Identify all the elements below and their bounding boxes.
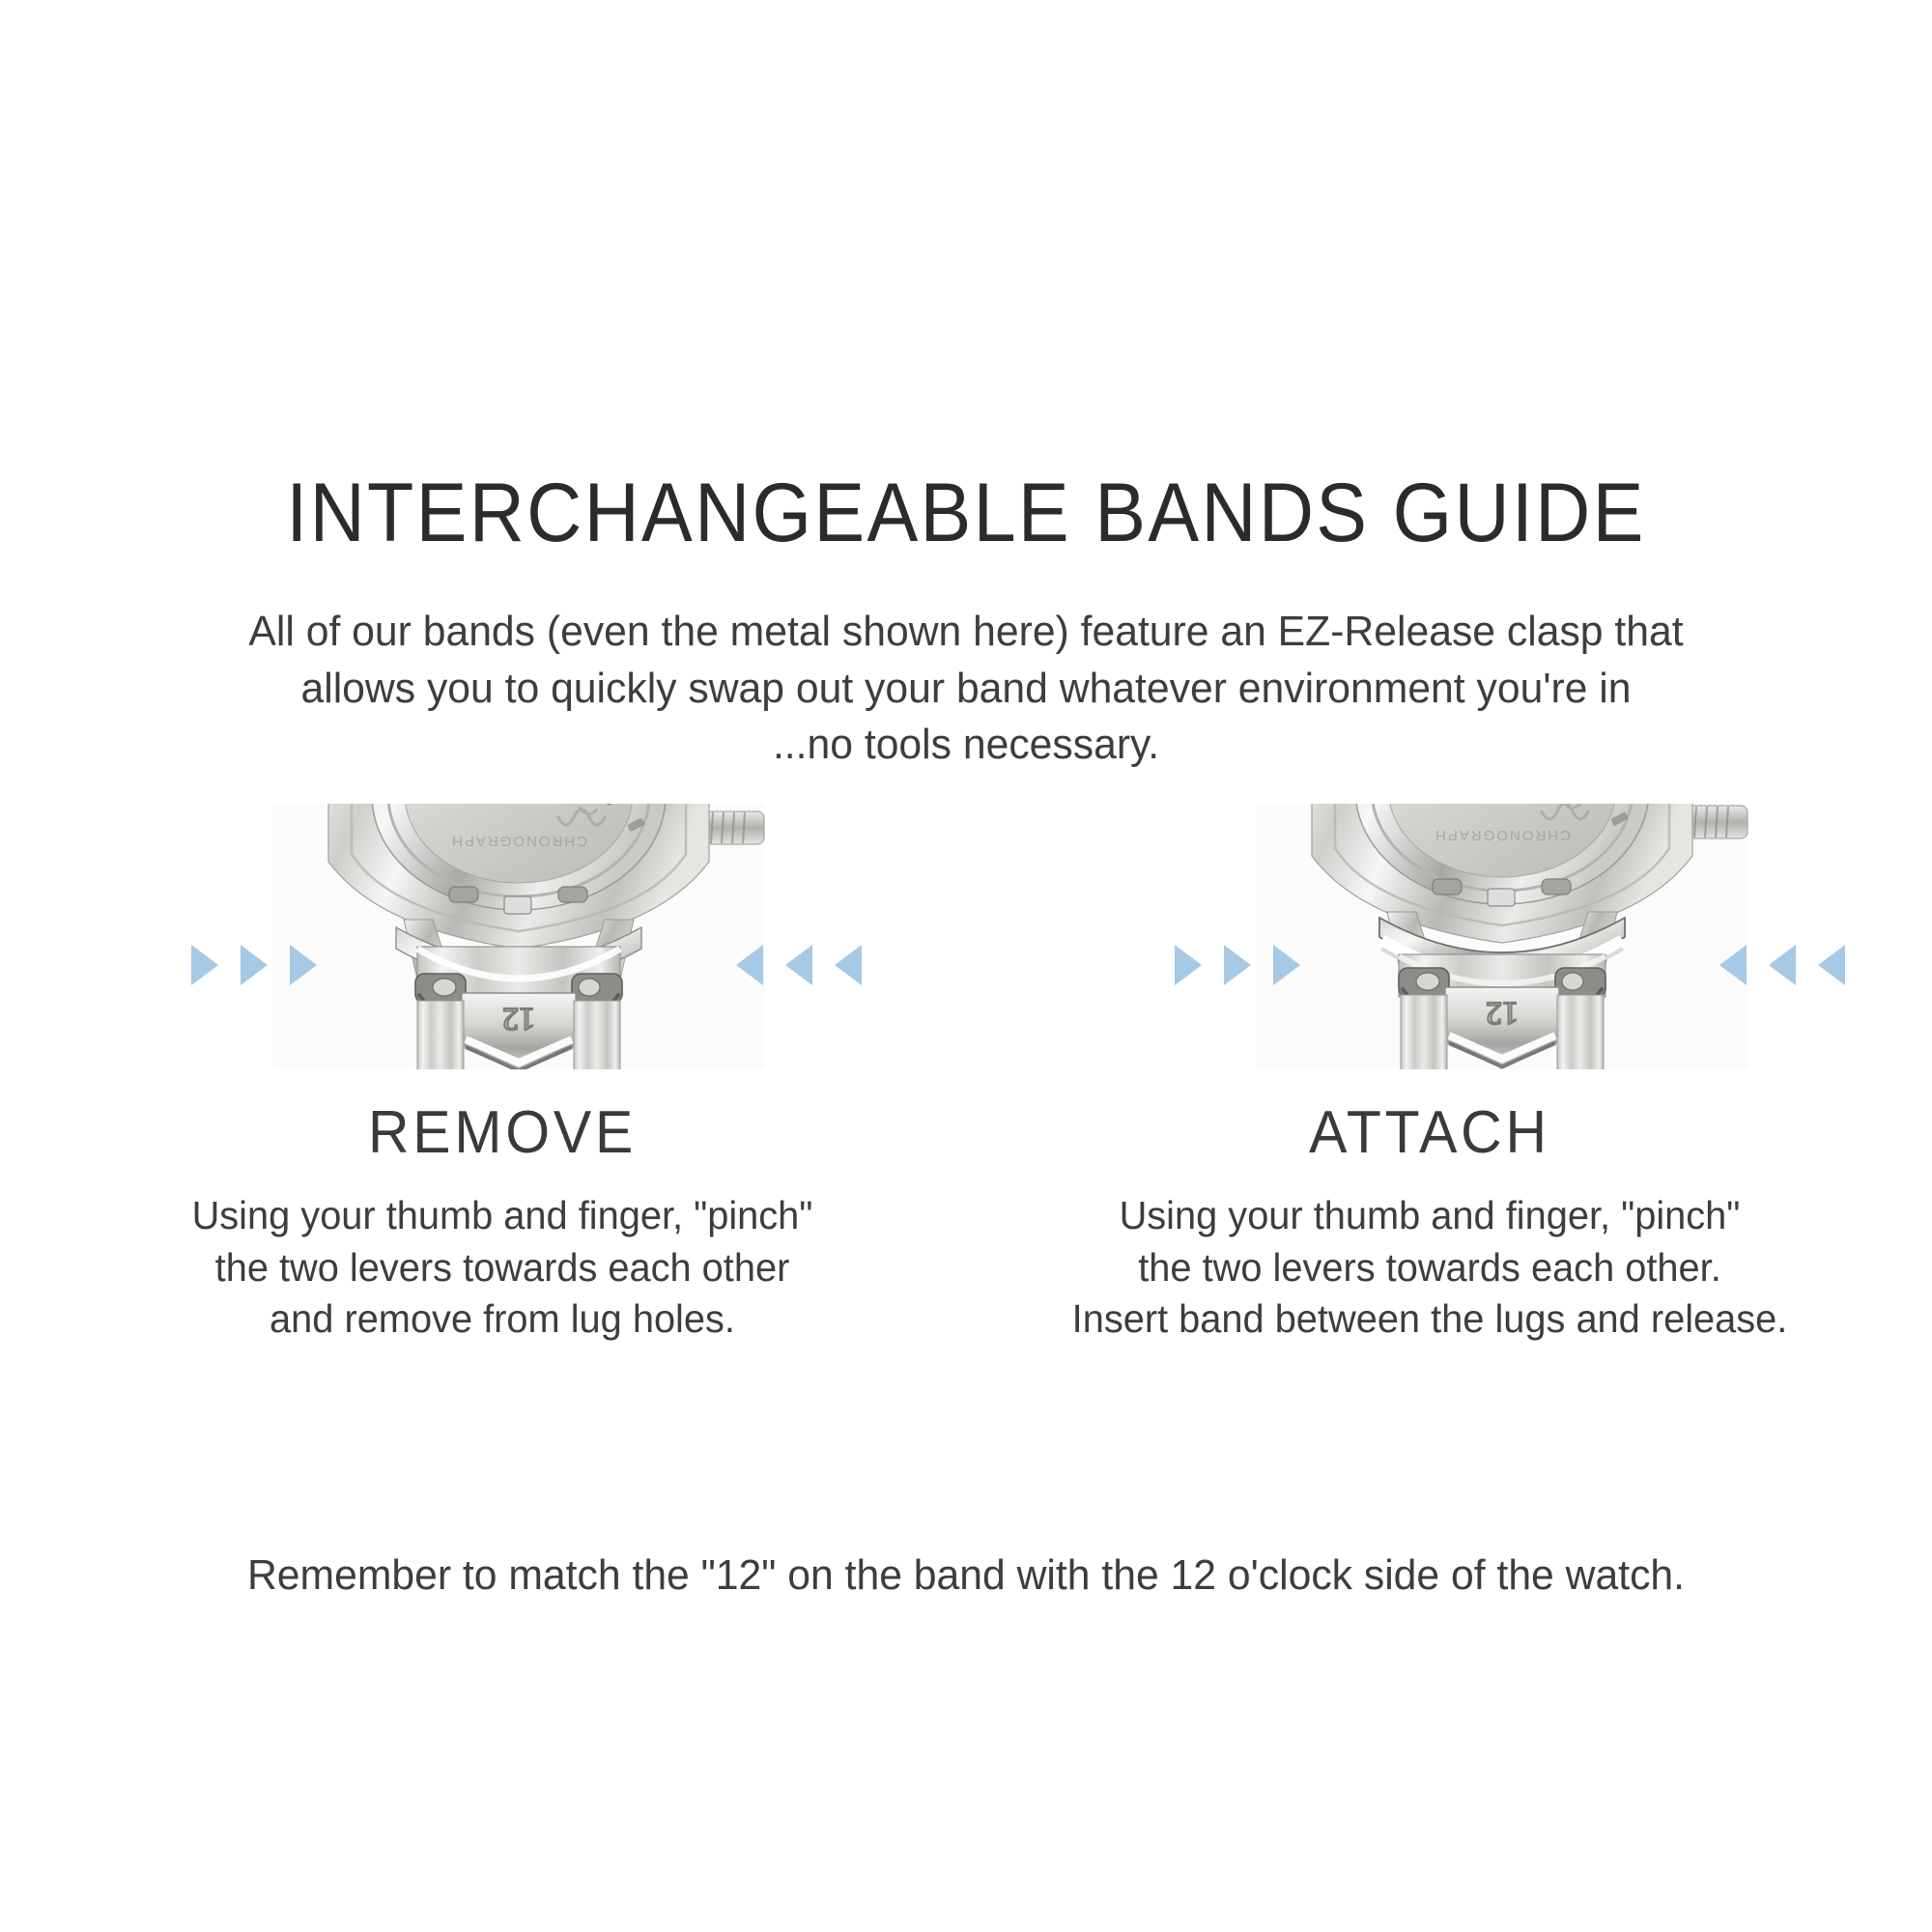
intro-paragraph: All of our bands (even the metal shown h… (188, 604, 1744, 774)
watch-caseback-illustration: CHRONOGRAPH (272, 804, 765, 1069)
step-title-remove: REMOVE (62, 1098, 943, 1167)
step-caption-remove: Using your thumb and finger, "pinch" the… (52, 1190, 952, 1346)
band-marking-12: 12 (1486, 995, 1519, 1031)
page-title: INTERCHANGEABLE BANDS GUIDE (77, 466, 1855, 561)
bands-guide-page: INTERCHANGEABLE BANDS GUIDE All of our b… (0, 0, 1932, 1932)
intro-line-3: ...no tools necessary. (188, 717, 1744, 774)
figure-remove: CHRONOGRAPH (39, 773, 966, 1072)
caption-line-1: Using your thumb and finger, "pinch" (52, 1190, 952, 1242)
caption-line-1: Using your thumb and finger, "pinch" (980, 1190, 1879, 1242)
step-caption-attach: Using your thumb and finger, "pinch" the… (980, 1190, 1879, 1346)
step-panel-remove: CHRONOGRAPH (39, 773, 966, 1352)
caseback-engraving: CHRONOGRAPH (1434, 827, 1571, 843)
step-panel-attach: CHRONOGRAPH (966, 773, 1893, 1352)
watch-caseback-illustration: CHRONOGRAPH (1256, 804, 1748, 1069)
caption-line-2: the two levers towards each other. (980, 1242, 1879, 1294)
svg-text:CHRONOGRAPH: CHRONOGRAPH (450, 833, 587, 849)
caption-line-3: Insert band between the lugs and release… (980, 1293, 1879, 1346)
watch-photo-attach: CHRONOGRAPH (1256, 804, 1748, 1069)
caseback-engraving: CHRONOGRAPH (450, 833, 587, 849)
triangle-right-icon (191, 945, 218, 985)
caption-line-3: and remove from lug holes. (52, 1293, 952, 1346)
triangle-left-icon (785, 945, 812, 985)
band-marking-12: 12 (502, 1001, 535, 1037)
figure-attach: CHRONOGRAPH (966, 773, 1893, 1072)
triangle-left-icon (1818, 945, 1845, 985)
triangle-left-icon (1769, 945, 1796, 985)
triangle-left-icon (835, 945, 862, 985)
footer-note: Remember to match the "12" on the band w… (29, 1551, 1903, 1600)
svg-text:CHRONOGRAPH: CHRONOGRAPH (1434, 827, 1571, 843)
caption-line-2: the two levers towards each other (52, 1242, 952, 1294)
triangle-right-icon (241, 945, 268, 985)
intro-line-1: All of our bands (even the metal shown h… (188, 604, 1744, 661)
watch-photo-remove: CHRONOGRAPH (272, 804, 765, 1069)
step-title-attach: ATTACH (989, 1098, 1870, 1167)
triangle-right-icon (1224, 945, 1251, 985)
steps-container: CHRONOGRAPH (0, 773, 1932, 1352)
triangle-right-icon (1175, 945, 1202, 985)
intro-line-2: allows you to quickly swap out your band… (188, 661, 1744, 718)
